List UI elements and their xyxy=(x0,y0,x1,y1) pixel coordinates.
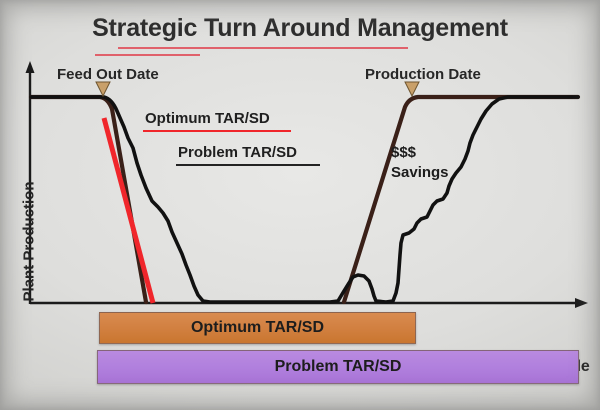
legend-bar-problem[interactable]: Problem TAR/SD xyxy=(97,350,579,384)
legend-bar-optimum-label: Optimum TAR/SD xyxy=(191,319,324,337)
y-axis-label: Plant Production xyxy=(21,162,38,322)
chart-plot-area: Plant Production Next Operation Cycle xyxy=(0,55,600,315)
chart-svg xyxy=(0,55,600,315)
series-problem-curve xyxy=(31,97,578,302)
title-underline-primary xyxy=(118,47,408,49)
annotation-optimum-tar-sd: Optimum TAR/SD xyxy=(145,110,270,127)
series-optimum-curve xyxy=(31,97,578,303)
annotation-optimum-underline xyxy=(143,130,291,132)
slide-canvas: Strategic Turn Around Management xyxy=(0,0,600,410)
annotation-problem-tar-sd: Problem TAR/SD xyxy=(178,144,297,161)
production-date-label: Production Date xyxy=(365,66,481,83)
page-title: Strategic Turn Around Management xyxy=(0,14,600,43)
annotation-problem-underline xyxy=(176,164,320,166)
savings-annotation: $$$ Savings xyxy=(391,143,449,183)
feed-out-date-marker xyxy=(96,82,110,96)
legend-bar-problem-label: Problem TAR/SD xyxy=(275,358,402,376)
legend-bar-optimum[interactable]: Optimum TAR/SD xyxy=(99,312,416,344)
feed-out-date-label: Feed Out Date xyxy=(57,66,159,83)
savings-dollars: $$$ xyxy=(391,144,416,161)
production-date-marker xyxy=(405,82,419,96)
savings-label: Savings xyxy=(391,163,449,183)
series-optimum-redline xyxy=(104,118,153,303)
